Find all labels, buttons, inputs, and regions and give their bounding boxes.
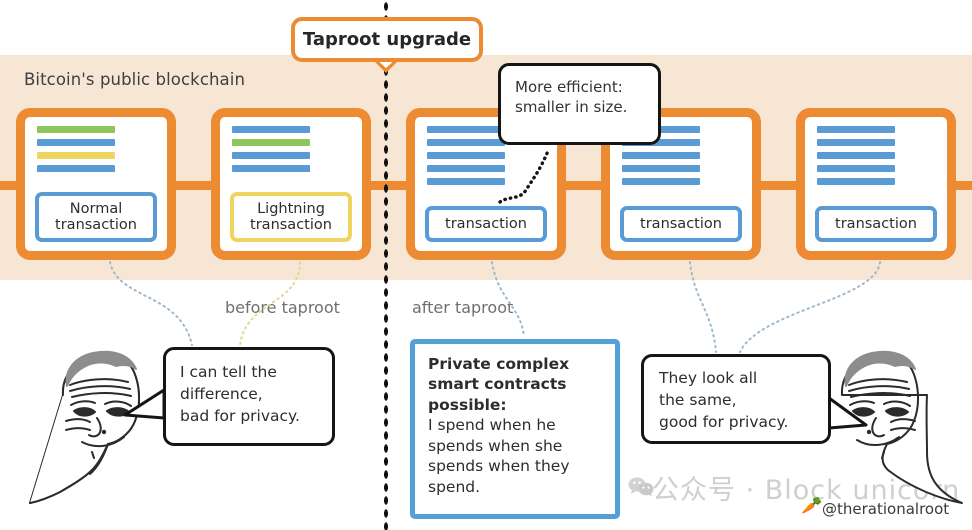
infobox-body-line-1: I spend when he	[428, 415, 602, 435]
tx-line-blue	[427, 178, 505, 185]
infobox-body-line-4: spend.	[428, 477, 602, 497]
infobox-heading-line-1: Private complex	[428, 355, 569, 373]
right-bubble-line-2: the same,	[659, 389, 813, 411]
tx-line-blue	[817, 152, 895, 159]
left-bubble-line-2: difference,	[180, 383, 318, 405]
tx-chip-line2: transaction	[238, 217, 344, 233]
tx-chip-transaction[interactable]: transaction	[620, 206, 742, 242]
tx-line-blue	[232, 126, 310, 133]
speech-bubble-left[interactable]: I can tell the difference, bad for priva…	[163, 347, 335, 446]
tx-line-blue	[817, 139, 895, 146]
tx-line-blue	[427, 165, 505, 172]
block-taproot-3[interactable]: transaction	[796, 108, 956, 260]
infobox-body-line-2: spends when she	[428, 436, 602, 456]
wechat-icon	[628, 476, 654, 496]
tx-chip-transaction[interactable]: transaction	[425, 206, 547, 242]
block-lines	[427, 126, 505, 191]
left-bubble-tail	[125, 390, 164, 418]
tx-line-green	[232, 139, 310, 146]
tx-chip-line1: Lightning	[238, 201, 344, 217]
carrot-icon: 🥕	[801, 496, 822, 516]
tx-line-blue	[232, 152, 310, 159]
speech-bubble-right[interactable]: They look all the same, good for privacy…	[641, 354, 831, 444]
right-bubble-tail	[829, 398, 866, 428]
tx-line-blue	[37, 165, 115, 172]
taproot-divider-line	[383, 0, 389, 530]
right-bubble-line-3: good for privacy.	[659, 411, 813, 433]
tx-line-blue	[622, 178, 700, 185]
tx-line-yellow	[37, 152, 115, 159]
tx-line-blue	[817, 178, 895, 185]
right-bubble-line-1: They look all	[659, 367, 813, 389]
more-efficient-callout[interactable]: More efficient: smaller in size.	[498, 63, 661, 145]
tx-line-blue	[817, 126, 895, 133]
tx-chip-lightning[interactable]: Lightning transaction	[230, 192, 352, 242]
block-lightning-transaction[interactable]: Lightning transaction	[211, 108, 371, 260]
efficient-line-1: More efficient:	[515, 77, 644, 97]
caption-before-taproot: before taproot	[225, 298, 340, 317]
infobox-body-line-3: spends when they	[428, 456, 602, 476]
tx-line-blue	[427, 139, 505, 146]
caption-after-taproot: after taproot	[412, 298, 513, 317]
private-smart-contracts-box[interactable]: Private complex smart contracts possible…	[410, 339, 620, 519]
tx-line-blue	[232, 165, 310, 172]
block-lines	[232, 126, 310, 178]
infobox-heading-line-3: possible:	[428, 396, 507, 414]
tx-chip-transaction[interactable]: transaction	[815, 206, 937, 242]
author-handle: @therationalroot	[822, 500, 949, 518]
band-label: Bitcoin's public blockchain	[24, 70, 245, 89]
block-normal-transaction[interactable]: Normal transaction	[16, 108, 176, 260]
face-left-skeptical	[30, 352, 139, 503]
tx-line-blue	[427, 152, 505, 159]
infobox-heading-line-2: smart contracts	[428, 375, 567, 393]
tx-line-blue	[427, 126, 505, 133]
diagram-canvas: Bitcoin's public blockchain Normal trans…	[0, 0, 972, 530]
left-bubble-line-1: I can tell the	[180, 361, 318, 383]
taproot-upgrade-callout[interactable]: Taproot upgrade	[291, 17, 483, 62]
tx-chip-normal[interactable]: Normal transaction	[35, 192, 157, 242]
tx-line-blue	[37, 139, 115, 146]
tx-line-blue	[622, 152, 700, 159]
tx-line-green	[37, 126, 115, 133]
tx-line-blue	[817, 165, 895, 172]
tx-line-blue	[622, 165, 700, 172]
block-lines	[817, 126, 895, 191]
tx-chip-line1: Normal	[43, 201, 149, 217]
efficient-line-2: smaller in size.	[515, 97, 644, 117]
block-lines	[37, 126, 115, 178]
tx-chip-line2: transaction	[43, 217, 149, 233]
left-bubble-line-3: bad for privacy.	[180, 405, 318, 427]
